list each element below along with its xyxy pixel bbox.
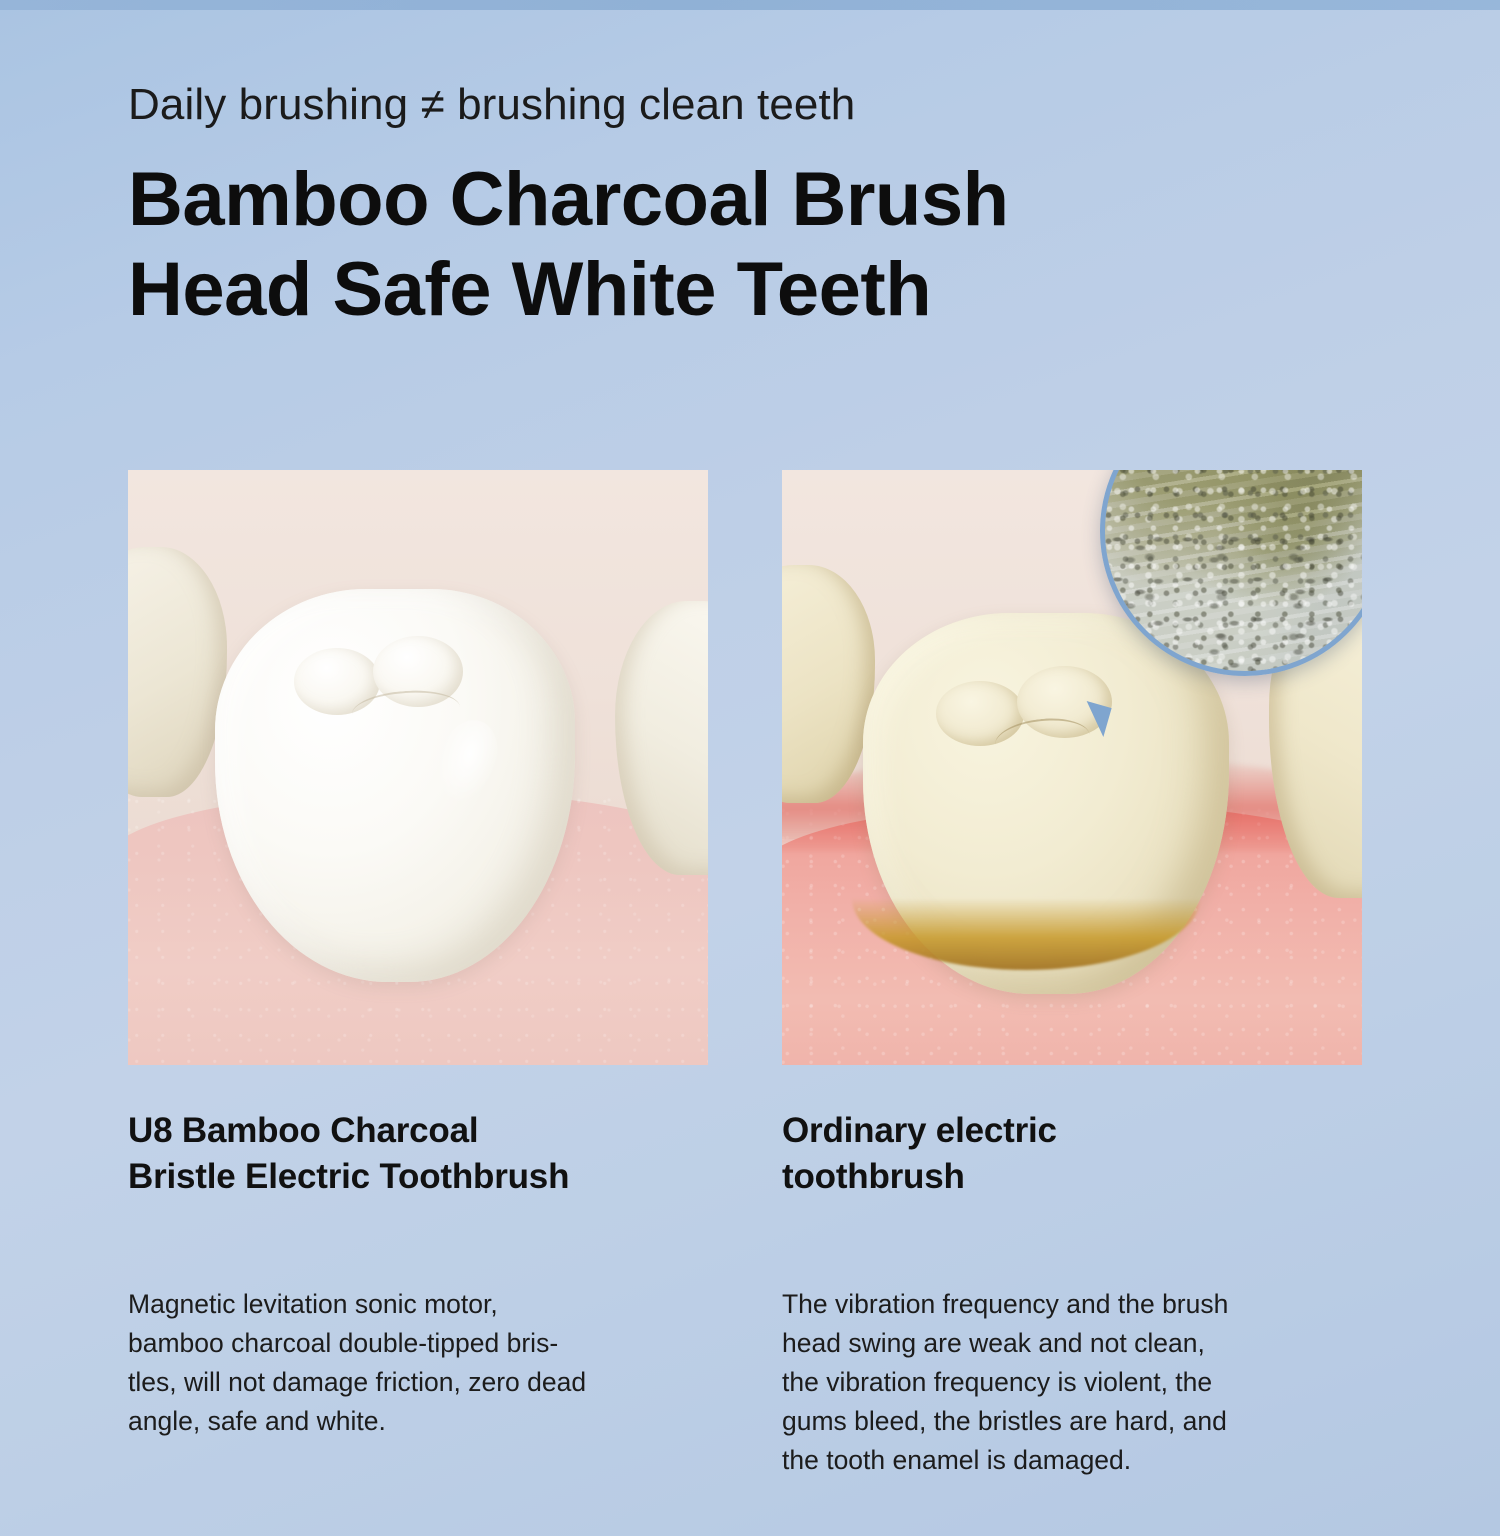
caption-right-line-1: Ordinary electric <box>782 1108 1362 1154</box>
body-right-line-4: gums bleed, the bristles are hard, and <box>782 1402 1382 1441</box>
body-right-line-3: the vibration frequency is violent, the <box>782 1363 1382 1402</box>
body-right-line-1: The vibration frequency and the brush <box>782 1285 1382 1324</box>
body-left-line-3: tles, will not damage friction, zero dea… <box>128 1363 738 1402</box>
body-left-line-2: bamboo charcoal double-tipped bris- <box>128 1324 738 1363</box>
body-copy-left: Magnetic levitation sonic motor, bamboo … <box>128 1285 738 1441</box>
headline-line-2: Head Safe White Teeth <box>128 247 1378 334</box>
product-image-dirty-tooth <box>782 470 1362 1065</box>
caption-right-line-2: toothbrush <box>782 1154 1362 1200</box>
product-image-clean-tooth <box>128 470 708 1065</box>
headline-line-1: Bamboo Charcoal Brush <box>128 157 1378 244</box>
comparison-panels <box>128 470 1362 1065</box>
callout-tail-icon <box>1078 701 1111 737</box>
top-accent-band <box>0 0 1500 10</box>
eyebrow-text: Daily brushing ≠ brushing clean teeth <box>128 80 1378 131</box>
body-right-line-5: the tooth enamel is damaged. <box>782 1441 1382 1480</box>
caption-left-line-2: Bristle Electric Toothbrush <box>128 1154 728 1200</box>
caption-left: U8 Bamboo Charcoal Bristle Electric Toot… <box>128 1108 728 1199</box>
body-left-line-1: Magnetic levitation sonic motor, <box>128 1285 738 1324</box>
plaque-zoom-circle <box>1100 470 1362 676</box>
caption-right: Ordinary electric toothbrush <box>782 1108 1362 1199</box>
body-left-line-4: angle, safe and white. <box>128 1402 738 1441</box>
tooth-specular-highlight <box>426 712 507 812</box>
caption-left-line-1: U8 Bamboo Charcoal <box>128 1108 728 1154</box>
magnifier-callout <box>1076 470 1362 748</box>
main-tooth-clean <box>215 589 575 982</box>
body-copy-right: The vibration frequency and the brush he… <box>782 1285 1382 1480</box>
header-block: Daily brushing ≠ brushing clean teeth Ba… <box>128 80 1378 334</box>
plaque-pit-texture <box>1105 525 1362 671</box>
body-right-line-2: head swing are weak and not clean, <box>782 1324 1382 1363</box>
